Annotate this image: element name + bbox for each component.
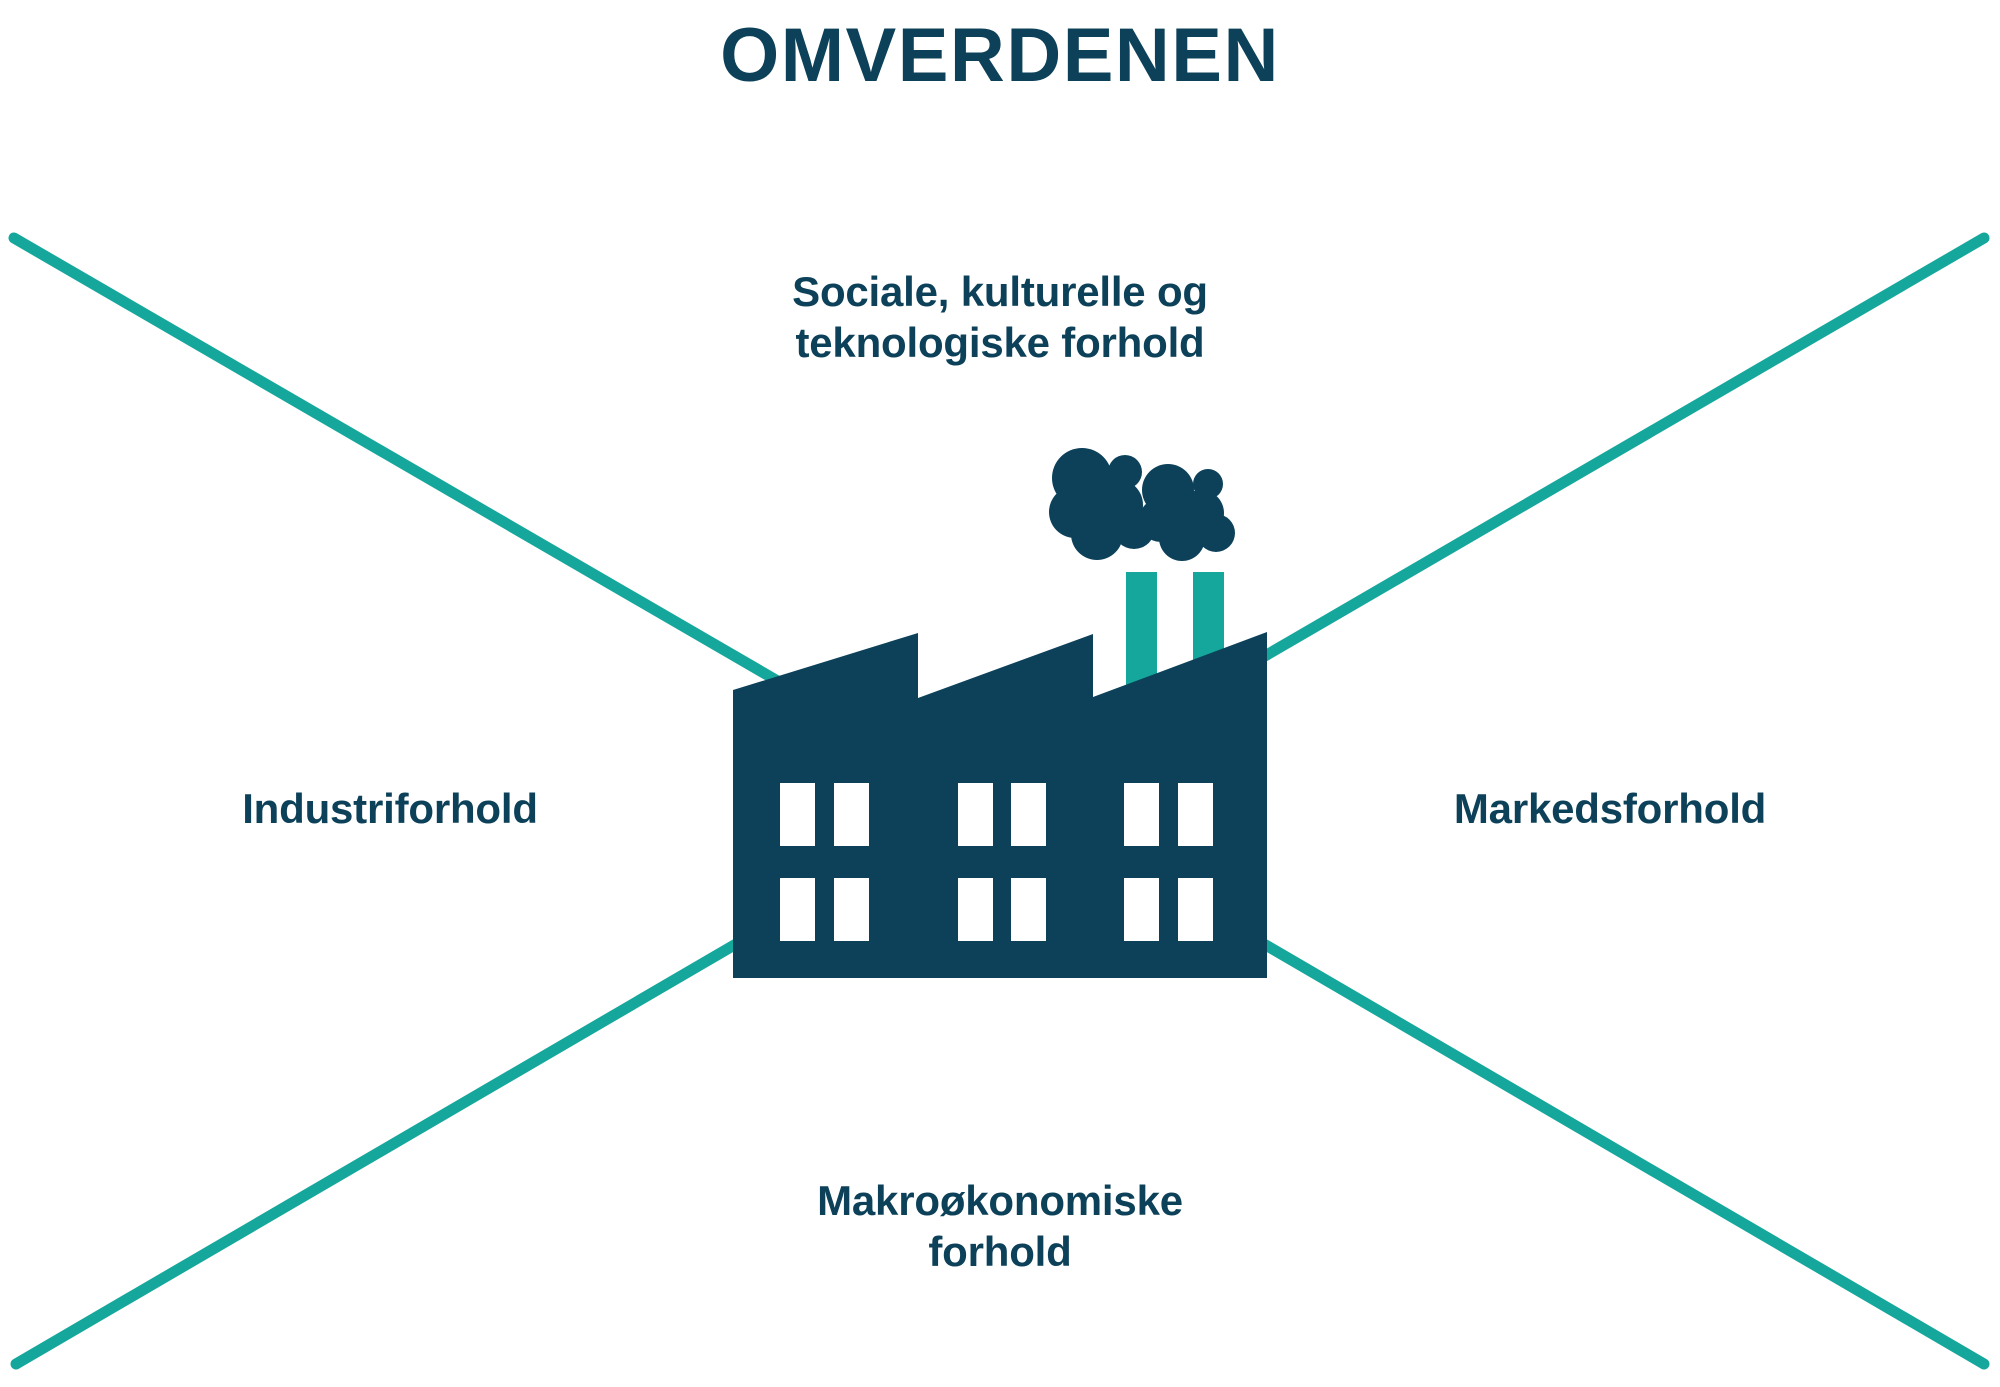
window (958, 783, 993, 846)
window (1178, 783, 1213, 846)
window (834, 878, 869, 941)
window (780, 878, 815, 941)
window (1124, 783, 1159, 846)
window (1011, 783, 1046, 846)
window (958, 878, 993, 941)
window (780, 783, 815, 846)
smoke-cluster-left-icon (1049, 448, 1155, 560)
label-industry-conditions: Industriforhold (140, 783, 640, 834)
label-market-conditions: Markedsforhold (1360, 783, 1860, 834)
window (1178, 878, 1213, 941)
smoke-cluster-right-icon (1139, 464, 1235, 561)
label-social-cultural-technological: Sociale, kulturelle og teknologiske forh… (600, 266, 1400, 368)
diagram-canvas: OMVERDENEN (0, 0, 2000, 1387)
window (1011, 878, 1046, 941)
label-macroeconomic-conditions: Makroøkonomiske forhold (600, 1175, 1400, 1277)
window (834, 783, 869, 846)
factory-icon (733, 448, 1267, 978)
window (1124, 878, 1159, 941)
